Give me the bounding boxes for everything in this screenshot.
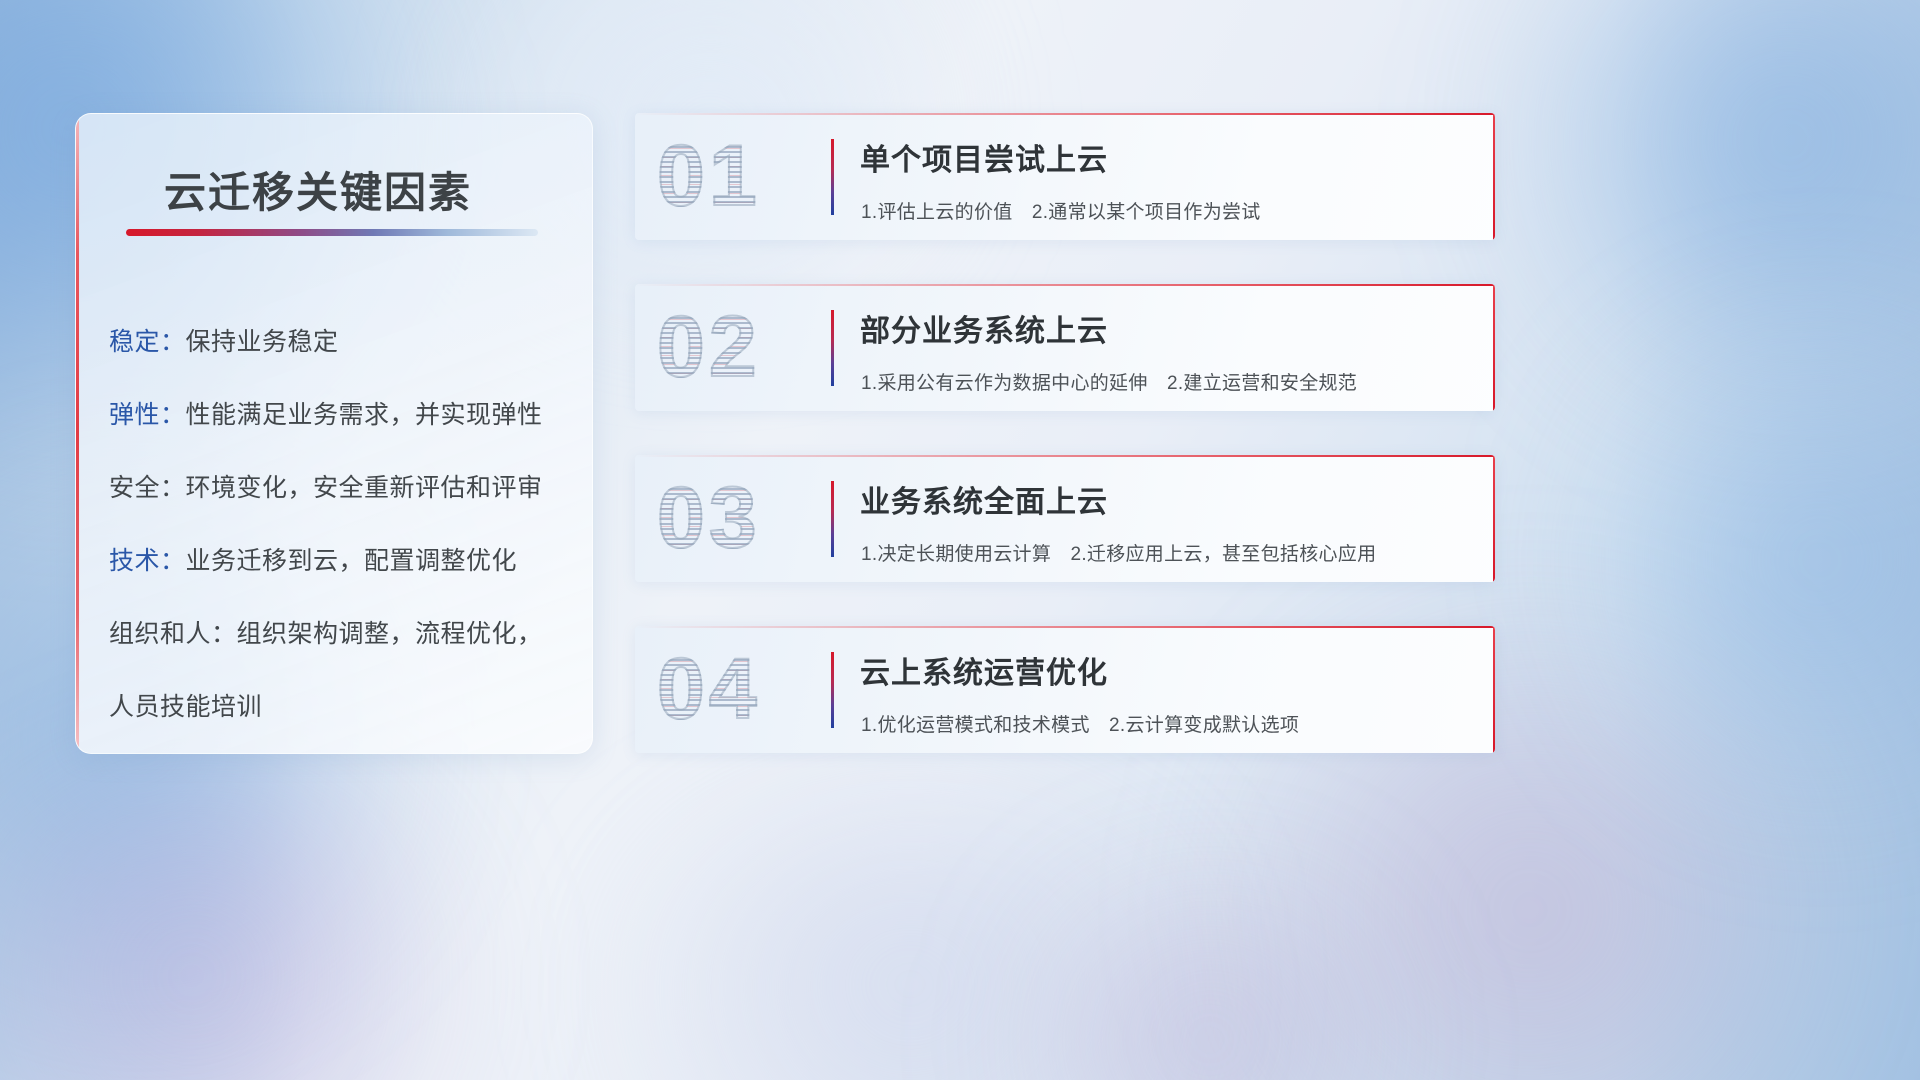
- card-divider: [831, 310, 834, 386]
- list-item-label: 弹性：: [109, 401, 186, 429]
- stage-card[interactable]: 0303业务系统全面上云1.决定长期使用云计算 2.迁移应用上云，甚至包括核心应…: [635, 455, 1495, 582]
- key-factors-list: 稳定：保持业务稳定弹性：性能满足业务需求，并实现弹性安全：环境变化，安全重新评估…: [109, 306, 574, 744]
- list-item: 安全：环境变化，安全重新评估和评审: [109, 452, 574, 525]
- card-top-accent: [635, 455, 1495, 457]
- card-subtitle: 1.评估上云的价值 2.通常以某个项目作为尝试: [861, 197, 1261, 224]
- card-title: 部分业务系统上云: [860, 306, 1108, 350]
- card-subtitle: 1.决定长期使用云计算 2.迁移应用上云，甚至包括核心应用: [861, 539, 1376, 566]
- list-item: 技术：业务迁移到云，配置调整优化: [109, 525, 574, 598]
- stages-card-list: 0101单个项目尝试上云1.评估上云的价值 2.通常以某个项目作为尝试0202部…: [635, 113, 1495, 797]
- list-item-text: 人员技能培训: [109, 693, 262, 721]
- card-divider: [831, 139, 834, 215]
- stage-card[interactable]: 0202部分业务系统上云1.采用公有云作为数据中心的延伸 2.建立运营和安全规范: [635, 284, 1495, 411]
- list-item-label: 安全：: [109, 474, 186, 502]
- stage-card[interactable]: 0404云上系统运营优化1.优化运营模式和技术模式 2.云计算变成默认选项: [635, 626, 1495, 753]
- card-number: 01: [657, 121, 761, 231]
- card-title: 云上系统运营优化: [860, 648, 1108, 692]
- page-title: 云迁移关键因素: [164, 159, 472, 220]
- card-top-accent: [635, 284, 1495, 286]
- card-number: 03: [657, 463, 761, 573]
- card-divider: [831, 481, 834, 557]
- list-item-text: 组织架构调整，流程优化，: [237, 620, 543, 648]
- card-top-accent: [635, 113, 1495, 115]
- card-divider: [831, 652, 834, 728]
- slide-content: 云迁移关键因素 稳定：保持业务稳定弹性：性能满足业务需求，并实现弹性安全：环境变…: [0, 0, 1920, 1080]
- list-item-label: 稳定：: [109, 328, 186, 356]
- list-item: 人员技能培训: [109, 671, 574, 744]
- stage-card[interactable]: 0101单个项目尝试上云1.评估上云的价值 2.通常以某个项目作为尝试: [635, 113, 1495, 240]
- list-item: 组织和人：组织架构调整，流程优化，: [109, 598, 574, 671]
- card-subtitle: 1.采用公有云作为数据中心的延伸 2.建立运营和安全规范: [861, 368, 1357, 395]
- list-item-label: 组织和人：: [109, 620, 237, 648]
- card-subtitle: 1.优化运营模式和技术模式 2.云计算变成默认选项: [861, 710, 1299, 737]
- card-top-accent: [635, 626, 1495, 628]
- card-title: 业务系统全面上云: [860, 477, 1108, 521]
- list-item-text: 性能满足业务需求，并实现弹性: [186, 401, 543, 429]
- list-item-text: 环境变化，安全重新评估和评审: [186, 474, 543, 502]
- list-item: 稳定：保持业务稳定: [109, 306, 574, 379]
- card-title: 单个项目尝试上云: [860, 135, 1108, 179]
- card-number: 04: [657, 634, 761, 744]
- card-number: 02: [657, 292, 761, 402]
- list-item-text: 保持业务稳定: [186, 328, 339, 356]
- list-item-label: 技术：: [109, 547, 186, 575]
- list-item-text: 业务迁移到云，配置调整优化: [186, 547, 518, 575]
- title-underline: [126, 229, 538, 236]
- list-item: 弹性：性能满足业务需求，并实现弹性: [109, 379, 574, 452]
- key-factors-panel: 云迁移关键因素 稳定：保持业务稳定弹性：性能满足业务需求，并实现弹性安全：环境变…: [75, 113, 593, 754]
